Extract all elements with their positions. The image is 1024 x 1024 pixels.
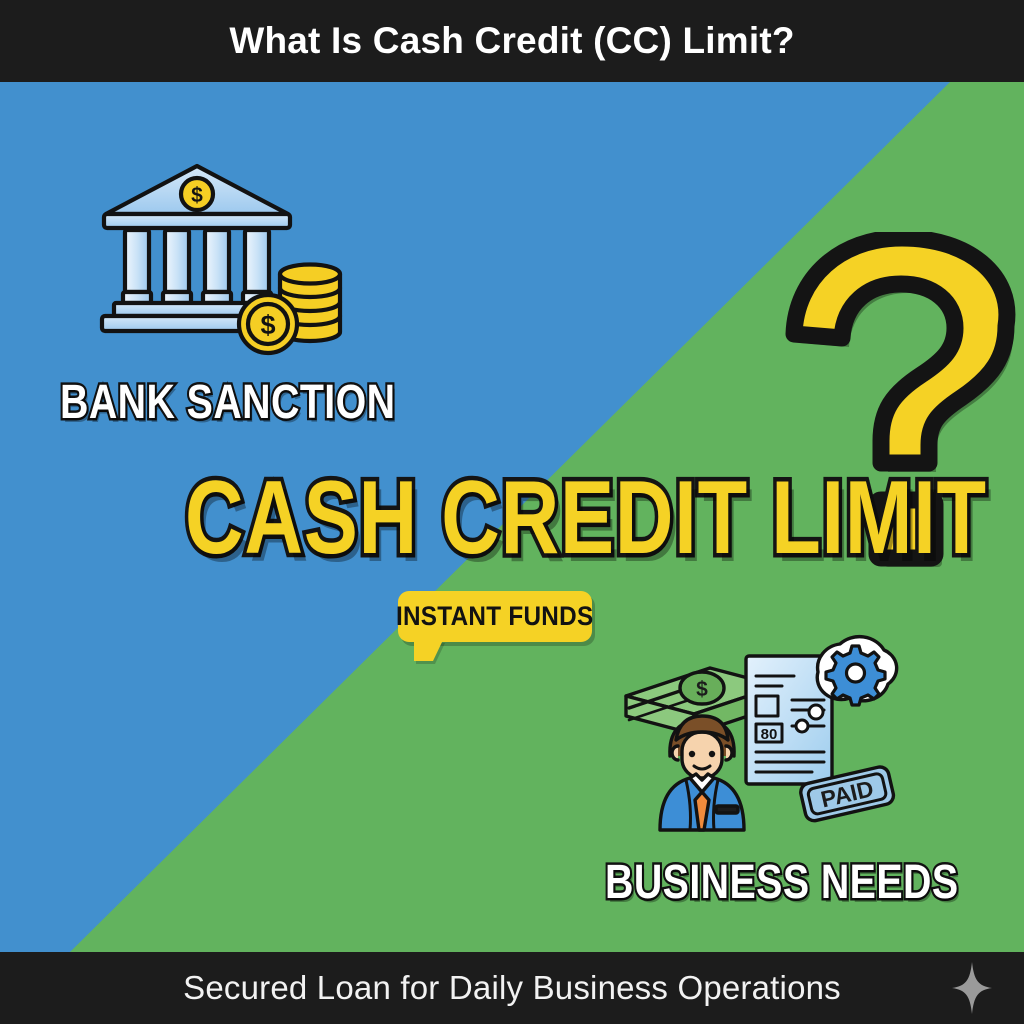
callout-tail [414,640,443,661]
svg-text:$: $ [260,310,275,340]
page-title: CASH CREDIT LIMIT [185,466,987,570]
sparkle-four-point-icon [952,962,992,1014]
instant-funds-callout: INSTANT FUNDS [398,591,592,642]
svg-text:$: $ [696,678,708,701]
header-title: What Is Cash Credit (CC) Limit? [229,20,794,62]
infographic-poster: $ [0,0,1024,1024]
footer-bar: Secured Loan for Daily Business Operatio… [0,952,1024,1024]
footer-tagline: Secured Loan for Daily Business Operatio… [183,969,841,1007]
bank-sanction-label: BANK SANCTION [60,375,396,430]
svg-text:80: 80 [761,726,778,743]
business-scene-icon: $ 80 [604,634,904,834]
header-bar: What Is Cash Credit (CC) Limit? [0,0,1024,82]
instant-funds-callout-text: INSTANT FUNDS [396,601,593,632]
svg-text:$: $ [191,184,203,207]
business-needs-label: BUSINESS NEEDS [605,855,959,910]
bank-building-icon: $ [92,152,350,357]
